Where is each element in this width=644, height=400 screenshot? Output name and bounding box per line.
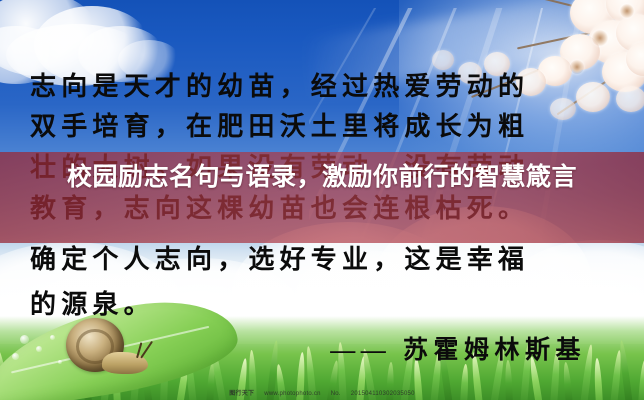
quote-line-6: 的源泉。 bbox=[30, 292, 644, 318]
page-title-line-2: 箴言 bbox=[526, 163, 577, 191]
watermark-id-label: No. bbox=[331, 391, 341, 397]
watermark-id: 201504110302035050 bbox=[351, 391, 415, 397]
quote-line-2: 双手培育，在肥田沃土里将成长为粗 bbox=[30, 114, 644, 140]
watermark-brand: 图行天下 bbox=[229, 391, 254, 397]
quote-line-1: 志向是天才的幼苗，经过热爱劳动的 bbox=[30, 74, 644, 100]
watermark: 图行天下www.photophoto.cnNo.2015041103020350… bbox=[0, 388, 644, 397]
snail bbox=[66, 318, 140, 374]
leaf-with-snail bbox=[0, 308, 300, 400]
quote-poster: 志向是天才的幼苗，经过热爱劳动的 双手培育，在肥田沃土里将成长为粗 壮的大树。如… bbox=[0, 0, 644, 400]
page-title: 校园励志名句与语录，激励你前行的智慧箴言 bbox=[0, 160, 644, 194]
quote-line-5: 确定个人志向，选好专业，这是幸福 bbox=[30, 247, 644, 273]
quote-author: —— 苏霍姆林斯基 bbox=[330, 330, 586, 366]
watermark-site: www.photophoto.cn bbox=[264, 391, 320, 397]
page-title-line-1: 校园励志名句与语录，激励你前行的智慧 bbox=[67, 163, 526, 191]
